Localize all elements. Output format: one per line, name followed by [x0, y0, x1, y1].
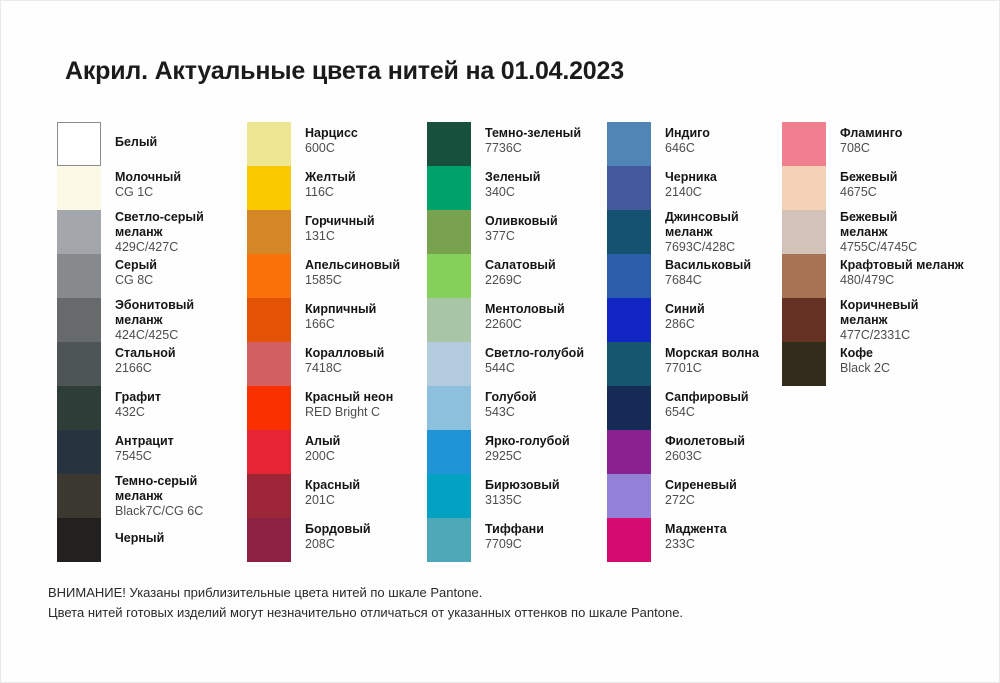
- color-code: 600C: [305, 141, 358, 156]
- notice-block: ВНИМАНИЕ! Указаны приблизительные цвета …: [48, 583, 683, 623]
- notice-line-2: Цвета нитей готовых изделий могут незнач…: [48, 603, 683, 623]
- color-code: 7693C/428C: [665, 240, 739, 255]
- color-row-text: Крафтовый меланж 480/479C: [840, 254, 964, 288]
- color-code: 2260C: [485, 317, 565, 332]
- color-row-text: Сапфировый 654C: [665, 386, 749, 420]
- color-row-text: Коричневыймеланж 477C/2331C: [840, 298, 918, 342]
- color-column-2: Нарцисс 600C Желтый 116C Горчичный 131C: [247, 122, 427, 562]
- color-column-5: Фламинго 708C Бежевый 4675C Бежевыймелан…: [782, 122, 957, 386]
- color-name: Бирюзовый: [485, 478, 560, 493]
- color-row[interactable]: Фиолетовый 2603C: [607, 430, 782, 474]
- color-row-text: Красный неон RED Bright C: [305, 386, 393, 420]
- color-row[interactable]: Эбонитовыймеланж 424C/425C: [57, 298, 247, 342]
- color-code: 432C: [115, 405, 161, 420]
- color-row[interactable]: Серый CG 8C: [57, 254, 247, 298]
- color-row-text: Серый CG 8C: [115, 254, 157, 288]
- color-name: Морская волна: [665, 346, 759, 361]
- color-swatch: [782, 298, 826, 342]
- color-row[interactable]: Стальной 2166C: [57, 342, 247, 386]
- color-code: 131C: [305, 229, 375, 244]
- color-row-text: Алый 200C: [305, 430, 340, 464]
- color-code: 7418C: [305, 361, 384, 376]
- color-code: 4755C/4745C: [840, 240, 917, 255]
- color-swatch: [427, 386, 471, 430]
- color-name: Голубой: [485, 390, 537, 405]
- color-code: 480/479C: [840, 273, 964, 288]
- color-name: Желтый: [305, 170, 356, 185]
- color-code: 7709C: [485, 537, 544, 552]
- color-code: CG 1C: [115, 185, 181, 200]
- color-row-text: Фламинго 708C: [840, 122, 902, 156]
- color-code: CG 8C: [115, 273, 157, 288]
- color-name: Светло-голубой: [485, 346, 584, 361]
- color-swatch: [57, 474, 101, 518]
- color-name: Красный неон: [305, 390, 393, 405]
- color-swatch: [57, 166, 101, 210]
- color-row[interactable]: Желтый 116C: [247, 166, 427, 210]
- color-row[interactable]: Оливковый 377C: [427, 210, 607, 254]
- color-column-1: Белый Молочный CG 1C Светло-серыймеланж …: [57, 122, 247, 562]
- color-code: 477C/2331C: [840, 328, 918, 343]
- color-row[interactable]: Тиффани 7709C: [427, 518, 607, 562]
- color-name: Горчичный: [305, 214, 375, 229]
- color-name: Синий: [665, 302, 705, 317]
- color-code: 208C: [305, 537, 371, 552]
- color-name: Светло-серыймеланж: [115, 210, 204, 240]
- color-name: Белый: [115, 135, 157, 150]
- color-swatch: [427, 254, 471, 298]
- color-code: 654C: [665, 405, 749, 420]
- color-swatch: [57, 298, 101, 342]
- color-row[interactable]: Бордовый 208C: [247, 518, 427, 562]
- color-name: Тиффани: [485, 522, 544, 537]
- color-row-text: Графит 432C: [115, 386, 161, 420]
- color-row-text: Оливковый 377C: [485, 210, 558, 244]
- color-row[interactable]: Маджента 233C: [607, 518, 782, 562]
- color-row-text: Фиолетовый 2603C: [665, 430, 745, 464]
- color-row-text: Бордовый 208C: [305, 518, 371, 552]
- color-column-4: Индиго 646C Черника 2140C Джинсовыймелан…: [607, 122, 782, 562]
- color-name: Эбонитовыймеланж: [115, 298, 194, 328]
- color-row-text: Морская волна 7701C: [665, 342, 759, 376]
- color-code: 424C/425C: [115, 328, 194, 343]
- color-row-text: Синий 286C: [665, 298, 705, 332]
- color-swatch: [247, 210, 291, 254]
- color-row[interactable]: Бежевый 4675C: [782, 166, 957, 210]
- color-swatch: [782, 254, 826, 298]
- color-code: RED Bright C: [305, 405, 393, 420]
- color-name: Васильковый: [665, 258, 751, 273]
- color-code: 200C: [305, 449, 340, 464]
- color-row-text: Васильковый 7684C: [665, 254, 751, 288]
- color-row[interactable]: Темно-зеленый 7736C: [427, 122, 607, 166]
- color-swatch: [427, 298, 471, 342]
- color-name: Ярко-голубой: [485, 434, 570, 449]
- color-swatch: [427, 342, 471, 386]
- color-swatch: [607, 298, 651, 342]
- color-row[interactable]: Сиреневый 272C: [607, 474, 782, 518]
- color-swatch: [247, 254, 291, 298]
- color-row-text: Желтый 116C: [305, 166, 356, 200]
- color-code: 429C/427C: [115, 240, 204, 255]
- color-swatch: [607, 210, 651, 254]
- color-name: Сиреневый: [665, 478, 737, 493]
- color-row[interactable]: Нарцисс 600C: [247, 122, 427, 166]
- color-row[interactable]: Белый: [57, 122, 247, 166]
- color-row-text: Антрацит 7545C: [115, 430, 174, 464]
- color-name: Коричневыймеланж: [840, 298, 918, 328]
- color-row[interactable]: Кофе Black 2C: [782, 342, 957, 386]
- color-row-text: Голубой 543C: [485, 386, 537, 420]
- color-code: 272C: [665, 493, 737, 508]
- color-columns: Белый Молочный CG 1C Светло-серыймеланж …: [57, 122, 957, 562]
- color-row[interactable]: Зеленый 340C: [427, 166, 607, 210]
- color-name: Бордовый: [305, 522, 371, 537]
- color-row[interactable]: Светло-серыймеланж 429C/427C: [57, 210, 247, 254]
- color-code: 116C: [305, 185, 356, 200]
- color-row[interactable]: Сапфировый 654C: [607, 386, 782, 430]
- color-swatch: [57, 518, 101, 562]
- color-swatch: [57, 342, 101, 386]
- color-code: 2269C: [485, 273, 556, 288]
- color-code: 233C: [665, 537, 727, 552]
- color-name: Зеленый: [485, 170, 540, 185]
- color-column-3: Темно-зеленый 7736C Зеленый 340C Оливков…: [427, 122, 607, 562]
- color-row-text: Ярко-голубой 2925C: [485, 430, 570, 464]
- color-name: Бежевый: [840, 170, 897, 185]
- color-row[interactable]: Морская волна 7701C: [607, 342, 782, 386]
- color-swatch: [427, 166, 471, 210]
- color-row[interactable]: Бирюзовый 3135C: [427, 474, 607, 518]
- color-code: 2166C: [115, 361, 176, 376]
- color-code: 544C: [485, 361, 584, 376]
- color-code: 3135C: [485, 493, 560, 508]
- color-row-text: Эбонитовыймеланж 424C/425C: [115, 298, 194, 342]
- color-row-text: Горчичный 131C: [305, 210, 375, 244]
- color-name: Салатовый: [485, 258, 556, 273]
- color-row-text: Нарцисс 600C: [305, 122, 358, 156]
- color-name: Темно-серыймеланж: [115, 474, 203, 504]
- color-code: Black7C/CG 6C: [115, 504, 203, 519]
- color-name: Стальной: [115, 346, 176, 361]
- color-row[interactable]: Антрацит 7545C: [57, 430, 247, 474]
- color-code: Black 2C: [840, 361, 890, 376]
- color-swatch: [427, 122, 471, 166]
- color-name: Темно-зеленый: [485, 126, 581, 141]
- color-name: Индиго: [665, 126, 710, 141]
- color-name: Черника: [665, 170, 717, 185]
- color-name: Молочный: [115, 170, 181, 185]
- color-swatch: [57, 210, 101, 254]
- color-swatch: [247, 122, 291, 166]
- color-row[interactable]: Голубой 543C: [427, 386, 607, 430]
- color-row[interactable]: Коралловый 7418C: [247, 342, 427, 386]
- color-swatch: [782, 342, 826, 386]
- color-swatch: [247, 518, 291, 562]
- color-swatch: [247, 430, 291, 474]
- color-row[interactable]: Бежевыймеланж 4755C/4745C: [782, 210, 957, 254]
- color-row[interactable]: Салатовый 2269C: [427, 254, 607, 298]
- color-name: Бежевыймеланж: [840, 210, 917, 240]
- color-name: Оливковый: [485, 214, 558, 229]
- color-row-text: Коралловый 7418C: [305, 342, 384, 376]
- color-row[interactable]: Темно-серыймеланж Black7C/CG 6C: [57, 474, 247, 518]
- color-name: Серый: [115, 258, 157, 273]
- color-swatch: [607, 430, 651, 474]
- color-row[interactable]: Индиго 646C: [607, 122, 782, 166]
- color-swatch: [247, 298, 291, 342]
- color-row-text: Кирпичный 166C: [305, 298, 376, 332]
- color-name: Сапфировый: [665, 390, 749, 405]
- color-code: 543C: [485, 405, 537, 420]
- color-row[interactable]: Черный: [57, 518, 247, 562]
- color-swatch: [427, 430, 471, 474]
- color-name: Маджента: [665, 522, 727, 537]
- color-row-text: Маджента 233C: [665, 518, 727, 552]
- color-row[interactable]: Черника 2140C: [607, 166, 782, 210]
- color-swatch: [427, 474, 471, 518]
- color-swatch: [782, 122, 826, 166]
- color-row[interactable]: Красный неон RED Bright C: [247, 386, 427, 430]
- color-code: 340C: [485, 185, 540, 200]
- color-code: 708C: [840, 141, 902, 156]
- color-code: 2925C: [485, 449, 570, 464]
- color-name: Крафтовый меланж: [840, 258, 964, 273]
- color-row-text: Черника 2140C: [665, 166, 717, 200]
- color-code: 286C: [665, 317, 705, 332]
- color-row[interactable]: Алый 200C: [247, 430, 427, 474]
- color-row-text: Джинсовыймеланж 7693C/428C: [665, 210, 739, 254]
- page-title: Акрил. Актуальные цвета нитей на 01.04.2…: [65, 57, 624, 86]
- color-swatch: [607, 518, 651, 562]
- color-row[interactable]: Коричневыймеланж 477C/2331C: [782, 298, 957, 342]
- color-row-text: Светло-серыймеланж 429C/427C: [115, 210, 204, 254]
- color-swatch: [247, 342, 291, 386]
- color-name: Апельсиновый: [305, 258, 400, 273]
- color-swatch: [57, 386, 101, 430]
- color-name: Антрацит: [115, 434, 174, 449]
- color-name: Кофе: [840, 346, 890, 361]
- color-swatch: [57, 254, 101, 298]
- color-swatch: [607, 122, 651, 166]
- color-swatch: [57, 430, 101, 474]
- color-row[interactable]: Ярко-голубой 2925C: [427, 430, 607, 474]
- color-swatch: [607, 254, 651, 298]
- color-swatch: [427, 210, 471, 254]
- color-swatch: [607, 474, 651, 518]
- color-row-text: Стальной 2166C: [115, 342, 176, 376]
- color-row-text: Бежевый 4675C: [840, 166, 897, 200]
- color-code: 2603C: [665, 449, 745, 464]
- color-row-text: Сиреневый 272C: [665, 474, 737, 508]
- color-row[interactable]: Крафтовый меланж 480/479C: [782, 254, 957, 298]
- color-name: Красный: [305, 478, 360, 493]
- color-row[interactable]: Васильковый 7684C: [607, 254, 782, 298]
- color-swatch: [607, 386, 651, 430]
- color-code: 7701C: [665, 361, 759, 376]
- color-code: 166C: [305, 317, 376, 332]
- color-row[interactable]: Фламинго 708C: [782, 122, 957, 166]
- color-row[interactable]: Графит 432C: [57, 386, 247, 430]
- color-swatch: [607, 342, 651, 386]
- color-code: 4675C: [840, 185, 897, 200]
- color-row-text: Индиго 646C: [665, 122, 710, 156]
- color-code: 646C: [665, 141, 710, 156]
- color-row-text: Темно-серыймеланж Black7C/CG 6C: [115, 474, 203, 518]
- color-row-text: Светло-голубой 544C: [485, 342, 584, 376]
- color-swatch: [782, 166, 826, 210]
- color-row-text: Молочный CG 1C: [115, 166, 181, 200]
- color-name: Фиолетовый: [665, 434, 745, 449]
- color-row[interactable]: Синий 286C: [607, 298, 782, 342]
- color-swatch: [607, 166, 651, 210]
- color-row-text: Салатовый 2269C: [485, 254, 556, 288]
- color-name: Нарцисс: [305, 126, 358, 141]
- notice-line-1: ВНИМАНИЕ! Указаны приблизительные цвета …: [48, 583, 683, 603]
- color-row[interactable]: Ментоловый 2260C: [427, 298, 607, 342]
- color-row[interactable]: Молочный CG 1C: [57, 166, 247, 210]
- color-name: Коралловый: [305, 346, 384, 361]
- color-row[interactable]: Горчичный 131C: [247, 210, 427, 254]
- color-row-text: Апельсиновый 1585C: [305, 254, 400, 288]
- color-code: 1585C: [305, 273, 400, 288]
- color-code: 2140C: [665, 185, 717, 200]
- color-code: 7684C: [665, 273, 751, 288]
- color-swatch: [247, 166, 291, 210]
- color-row-text: Тиффани 7709C: [485, 518, 544, 552]
- color-row[interactable]: Апельсиновый 1585C: [247, 254, 427, 298]
- color-name: Алый: [305, 434, 340, 449]
- color-row-text: Зеленый 340C: [485, 166, 540, 200]
- color-row[interactable]: Джинсовыймеланж 7693C/428C: [607, 210, 782, 254]
- color-name: Джинсовыймеланж: [665, 210, 739, 240]
- color-row-text: Черный: [115, 518, 164, 546]
- color-chart-page: Акрил. Актуальные цвета нитей на 01.04.2…: [0, 0, 1000, 683]
- color-row-text: Белый: [115, 122, 157, 150]
- color-code: 377C: [485, 229, 558, 244]
- color-row-text: Ментоловый 2260C: [485, 298, 565, 332]
- color-swatch: [247, 386, 291, 430]
- color-name: Черный: [115, 531, 164, 546]
- color-name: Графит: [115, 390, 161, 405]
- color-row-text: Бежевыймеланж 4755C/4745C: [840, 210, 917, 254]
- color-code: 7545C: [115, 449, 174, 464]
- color-swatch: [782, 210, 826, 254]
- color-code: 201C: [305, 493, 360, 508]
- color-row[interactable]: Светло-голубой 544C: [427, 342, 607, 386]
- color-name: Фламинго: [840, 126, 902, 141]
- color-swatch: [57, 122, 101, 166]
- color-swatch: [247, 474, 291, 518]
- color-swatch: [427, 518, 471, 562]
- color-row-text: Бирюзовый 3135C: [485, 474, 560, 508]
- color-name: Ментоловый: [485, 302, 565, 317]
- color-row-text: Темно-зеленый 7736C: [485, 122, 581, 156]
- color-row-text: Кофе Black 2C: [840, 342, 890, 376]
- color-row[interactable]: Кирпичный 166C: [247, 298, 427, 342]
- color-code: 7736C: [485, 141, 581, 156]
- color-row-text: Красный 201C: [305, 474, 360, 508]
- color-name: Кирпичный: [305, 302, 376, 317]
- color-row[interactable]: Красный 201C: [247, 474, 427, 518]
